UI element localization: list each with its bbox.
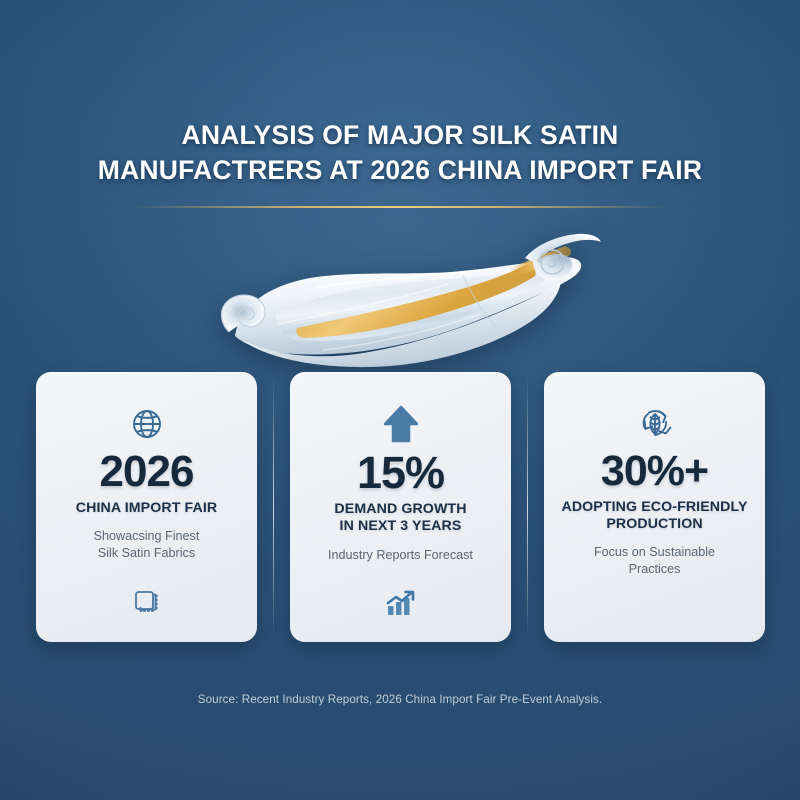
stat-subtext: Showacsing Finest Silk Satin Fabrics xyxy=(94,528,200,562)
stat-subtext: Industry Reports Forecast xyxy=(328,547,473,564)
stat-card-eco-friendly[interactable]: 30%+ ADOPTING ECO-FRIENDLY PRODUCTION Fo… xyxy=(544,372,765,642)
stat-subtext-line-2: Practices xyxy=(629,562,681,576)
page-title: ANALYSIS OF MAJOR SILK SATIN MANUFACTRER… xyxy=(0,118,800,188)
stat-card-demand-growth[interactable]: 15% DEMAND GROWTH IN NEXT 3 YEARS Indust… xyxy=(290,372,511,642)
title-line-1: ANALYSIS OF MAJOR SILK SATIN xyxy=(0,118,800,153)
stat-label: ADOPTING ECO-FRIENDLY PRODUCTION xyxy=(561,499,747,534)
stat-label-line-2: PRODUCTION xyxy=(606,516,702,532)
stat-label-line-1: DEMAND GROWTH xyxy=(334,501,466,517)
card-divider-1 xyxy=(273,378,274,636)
fabric-swatch-icon xyxy=(132,586,162,626)
eco-leaf-recycle-icon xyxy=(634,404,676,444)
stat-subtext-line-1: Industry Reports Forecast xyxy=(328,548,473,562)
stat-label: CHINA IMPORT FAIR xyxy=(76,500,217,517)
stat-label-line-2: IN NEXT 3 YEARS xyxy=(340,518,462,534)
stat-number: 30%+ xyxy=(601,450,708,494)
silk-fabric-illustration xyxy=(205,218,605,368)
up-arrow-icon xyxy=(381,404,421,444)
stat-number: 2026 xyxy=(100,450,194,495)
stat-label: DEMAND GROWTH IN NEXT 3 YEARS xyxy=(334,501,466,536)
stat-subtext-line-1: Focus on Sustainable xyxy=(594,545,715,559)
stat-cards-row: 2026 CHINA IMPORT FAIR Showacsing Finest… xyxy=(36,372,765,642)
stat-subtext-line-2: Silk Satin Fabrics xyxy=(98,546,195,560)
stat-subtext: Focus on Sustainable Practices xyxy=(594,544,715,578)
gold-divider-rule xyxy=(132,206,668,208)
globe-icon xyxy=(130,404,164,444)
growth-chart-icon xyxy=(385,586,417,626)
stat-number: 15% xyxy=(357,450,444,496)
stat-label-line-1: ADOPTING ECO-FRIENDLY xyxy=(561,499,747,515)
title-line-2: MANUFACTRERS AT 2026 CHINA IMPORT FAIR xyxy=(0,153,800,188)
stat-subtext-line-1: Showacsing Finest xyxy=(94,529,200,543)
card-divider-2 xyxy=(527,378,528,636)
source-note: Source: Recent Industry Reports, 2026 Ch… xyxy=(0,693,800,706)
infographic-canvas: ANALYSIS OF MAJOR SILK SATIN MANUFACTRER… xyxy=(0,0,800,800)
stat-card-china-import-fair[interactable]: 2026 CHINA IMPORT FAIR Showacsing Finest… xyxy=(36,372,257,642)
